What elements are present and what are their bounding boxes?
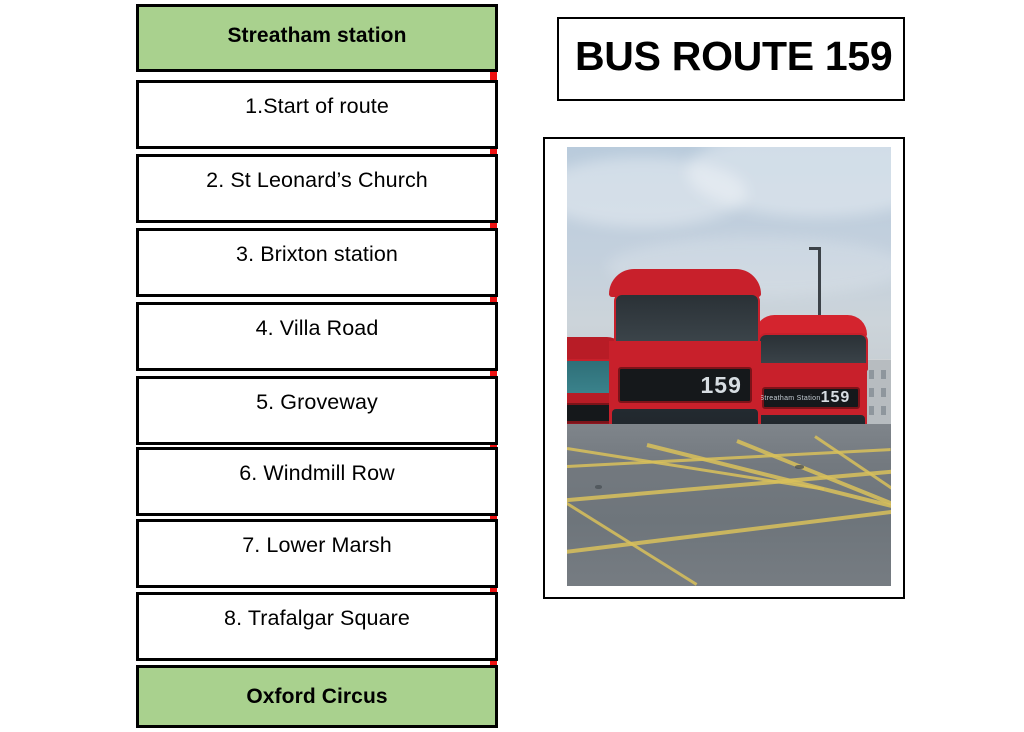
photo-bus-right-destination-route: 159 bbox=[821, 389, 859, 407]
route-stop-7-label: 7. Lower Marsh bbox=[139, 522, 495, 557]
route-stop-3-label: 3. Brixton station bbox=[139, 231, 495, 266]
photo-debris bbox=[795, 465, 804, 469]
photo-debris bbox=[595, 485, 602, 489]
route-stop-4[interactable]: 4. Villa Road bbox=[136, 302, 498, 371]
route-stop-6-label: 6. Windmill Row bbox=[139, 450, 495, 485]
route-stop-2-label: 2. St Leonard’s Church bbox=[139, 157, 495, 192]
route-stop-8[interactable]: 8. Trafalgar Square bbox=[136, 592, 498, 661]
page-title: BUS ROUTE 159 bbox=[559, 19, 903, 77]
route-stop-8-label: 8. Trafalgar Square bbox=[139, 595, 495, 630]
route-stop-6[interactable]: 6. Windmill Row bbox=[136, 447, 498, 516]
route-stop-1[interactable]: 1.Start of route bbox=[136, 80, 498, 149]
photo-bus-right-destination: Streatham Station 159 bbox=[762, 387, 861, 409]
route-end-terminus[interactable]: Oxford Circus bbox=[136, 665, 498, 728]
photo-bus-front-destination-route: 159 bbox=[700, 372, 749, 399]
route-stop-list: Streatham station 1.Start of route 2. St… bbox=[136, 4, 498, 728]
route-start-terminus-label: Streatham station bbox=[139, 7, 495, 46]
photo-bus-right-destination-name: Streatham Station bbox=[751, 395, 820, 402]
route-stop-7[interactable]: 7. Lower Marsh bbox=[136, 519, 498, 588]
route-stop-4-label: 4. Villa Road bbox=[139, 305, 495, 340]
route-stop-3[interactable]: 3. Brixton station bbox=[136, 228, 498, 297]
bus-photo-image: Streatham Station 159 159 bbox=[567, 147, 891, 586]
photo-tarmac bbox=[567, 424, 891, 586]
route-stop-2[interactable]: 2. St Leonard’s Church bbox=[136, 154, 498, 223]
route-end-terminus-label: Oxford Circus bbox=[139, 668, 495, 707]
page-title-box: BUS ROUTE 159 bbox=[557, 17, 905, 101]
route-stop-5[interactable]: 5. Groveway bbox=[136, 376, 498, 445]
route-stop-5-label: 5. Groveway bbox=[139, 379, 495, 414]
bus-photo-frame: Streatham Station 159 159 bbox=[543, 137, 905, 599]
route-stop-1-label: 1.Start of route bbox=[139, 83, 495, 118]
photo-bus-front-destination: 159 bbox=[618, 367, 752, 403]
route-start-terminus[interactable]: Streatham station bbox=[136, 4, 498, 72]
